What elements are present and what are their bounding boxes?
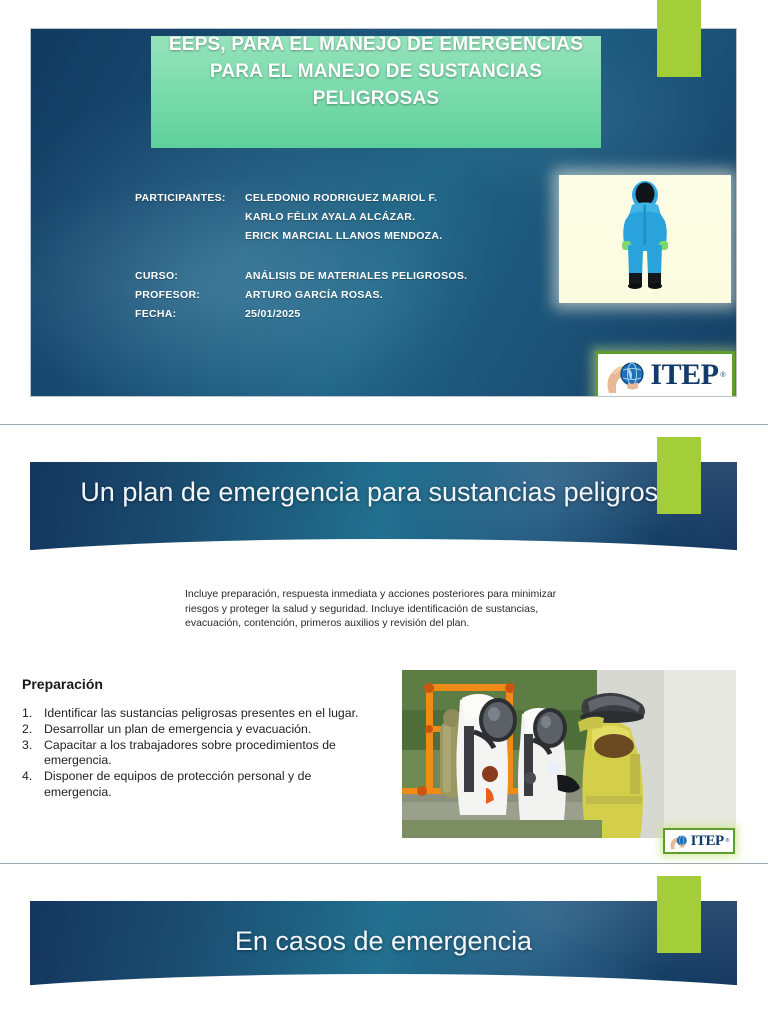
hazmat-suit-image: [559, 175, 731, 303]
hazmat-team-image: [402, 670, 736, 838]
slide-2-section-heading: Preparación: [22, 676, 103, 692]
slide-1[interactable]: EEPS, PARA EL MANEJO DE EMERGENCIAS PARA…: [30, 28, 737, 397]
itep-registered-mark: ®: [720, 372, 725, 379]
list-item: 1. Identificar las sustancias peligrosas…: [22, 706, 377, 722]
list-item-text: Capacitar a los trabajadores sobre proce…: [44, 738, 377, 770]
participant-name-3: ERICK MARCIAL LLANOS MENDOZA.: [245, 227, 443, 246]
list-item-number: 2.: [22, 722, 44, 738]
hazmat-suit-icon: [612, 181, 678, 297]
participants-row-1: PARTICIPANTES: CELEDONIO RODRIGUEZ MARIO…: [135, 189, 467, 208]
hazmat-team-photo-illustration: [402, 670, 736, 838]
profesor-row: PROFESOR: ARTURO GARCÍA ROSAS.: [135, 286, 467, 305]
slide-3-header-banner: En casos de emergencia: [30, 901, 737, 1001]
participant-name-2: KARLO FÉLIX AYALA ALCÁZAR.: [245, 208, 415, 227]
slide-separator-1: [0, 424, 768, 425]
curso-value: ANÁLISIS DE MATERIALES PELIGROSOS.: [245, 267, 467, 286]
slide-separator-2: [0, 863, 768, 864]
list-item-text: Disponer de equipos de protección person…: [44, 769, 377, 801]
itep-logo-inner: ITEP ®: [669, 831, 730, 851]
presentation-page: EEPS, PARA EL MANEJO DE EMERGENCIAS PARA…: [0, 0, 768, 1024]
participant-name-1: CELEDONIO RODRIGUEZ MARIOL F.: [245, 189, 437, 208]
list-item-number: 4.: [22, 769, 44, 801]
green-accent-tab-slide-2: [657, 437, 701, 514]
participants-spacer-1: [135, 208, 245, 227]
green-accent-tab-slide-1: [657, 0, 701, 77]
fecha-row: FECHA: 25/01/2025: [135, 305, 467, 324]
slide-2-paragraph: Incluye preparación, respuesta inmediata…: [185, 587, 557, 631]
curso-label: CURSO:: [135, 267, 245, 286]
list-item: 4. Disponer de equipos de protección per…: [22, 769, 377, 801]
banner-curve: [30, 539, 737, 566]
green-accent-tab-slide-3: [657, 876, 701, 953]
itep-logo-text: ITEP: [650, 360, 718, 390]
slide-2-title: Un plan de emergencia para sustancias pe…: [30, 474, 737, 511]
itep-logo-inner: ITEP ®: [604, 355, 725, 395]
participants-spacer-2: [135, 227, 245, 246]
list-item: 2. Desarrollar un plan de emergencia y e…: [22, 722, 377, 738]
slide-1-title: EEPS, PARA EL MANEJO DE EMERGENCIAS PARA…: [146, 31, 606, 112]
fecha-value: 25/01/2025: [245, 305, 301, 324]
slide-1-info-block: PARTICIPANTES: CELEDONIO RODRIGUEZ MARIO…: [135, 189, 467, 324]
itep-logo-text: ITEP: [691, 834, 724, 849]
hand-holding-globe-icon: [604, 355, 648, 395]
list-item-text: Identificar las sustancias peligrosas pr…: [44, 706, 377, 722]
profesor-label: PROFESOR:: [135, 286, 245, 305]
participants-label: PARTICIPANTES:: [135, 189, 245, 208]
slide-2-numbered-list: 1. Identificar las sustancias peligrosas…: [22, 706, 377, 801]
slide-2-header-banner: Un plan de emergencia para sustancias pe…: [30, 462, 737, 566]
info-gap: [135, 246, 467, 267]
participants-row-3: ERICK MARCIAL LLANOS MENDOZA.: [135, 227, 467, 246]
hand-holding-globe-icon: [669, 831, 689, 851]
itep-logo: ITEP ®: [663, 828, 735, 854]
list-item-text: Desarrollar un plan de emergencia y evac…: [44, 722, 377, 738]
list-item: 3. Capacitar a los trabajadores sobre pr…: [22, 738, 377, 770]
participants-row-2: KARLO FÉLIX AYALA ALCÁZAR.: [135, 208, 467, 227]
list-item-number: 3.: [22, 738, 44, 770]
slide-3-title: En casos de emergencia: [30, 923, 737, 960]
curso-row: CURSO: ANÁLISIS DE MATERIALES PELIGROSOS…: [135, 267, 467, 286]
profesor-value: ARTURO GARCÍA ROSAS.: [245, 286, 383, 305]
banner-curve: [30, 974, 737, 1001]
fecha-label: FECHA:: [135, 305, 245, 324]
itep-registered-mark: ®: [726, 838, 730, 844]
itep-logo: ITEP ®: [595, 351, 735, 397]
list-item-number: 1.: [22, 706, 44, 722]
